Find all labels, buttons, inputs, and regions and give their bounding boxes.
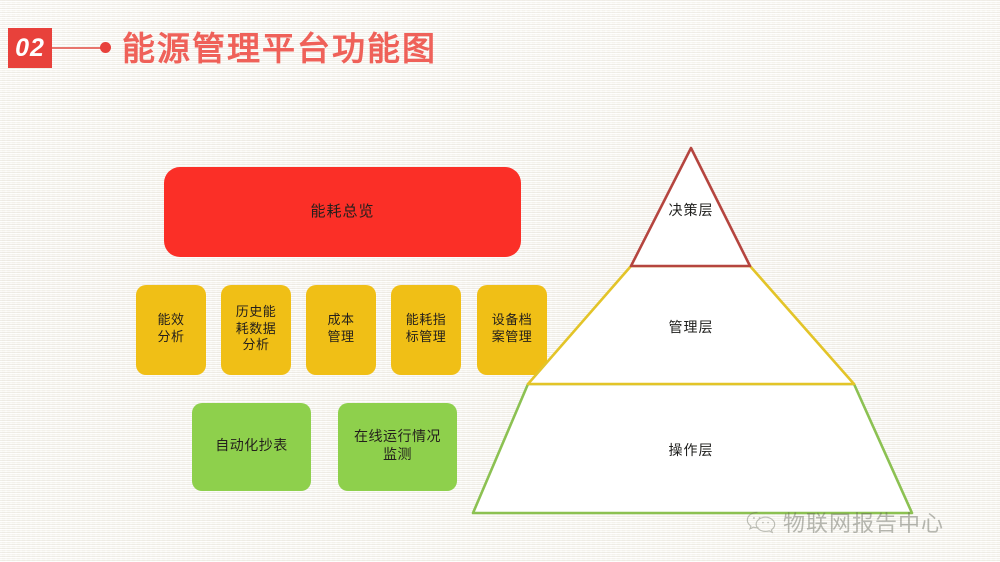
slide-header: 02 能源管理平台功能图	[0, 0, 1000, 92]
module-box-consumption-indicator-management[interactable]: 能耗指 标管理	[391, 285, 461, 375]
slide-canvas: 02 能源管理平台功能图 能耗总览 能效 分析 历史能 耗数据 分析 成本 管理…	[0, 0, 1000, 562]
module-box-efficiency-analysis[interactable]: 能效 分析	[136, 285, 206, 375]
pyramid-label-management-layer: 管理层	[669, 317, 714, 337]
watermark-label: 物联网报告中心	[783, 506, 944, 538]
header-connector-dot-icon	[100, 42, 111, 53]
watermark: 物联网报告中心	[746, 506, 944, 538]
section-number-badge: 02	[8, 28, 52, 68]
pyramid-label-decision-layer: 决策层	[669, 200, 714, 220]
pyramid-label-operation-layer: 操作层	[669, 440, 714, 460]
header-connector-line	[52, 47, 104, 49]
hierarchy-pyramid: 决策层 管理层 操作层	[455, 135, 935, 530]
module-box-automatic-meter-reading[interactable]: 自动化抄表	[192, 403, 311, 491]
module-box-online-operation-monitoring[interactable]: 在线运行情况 监测	[338, 403, 457, 491]
page-title: 能源管理平台功能图	[122, 22, 437, 70]
module-box-historical-data-analysis[interactable]: 历史能 耗数据 分析	[221, 285, 291, 375]
wechat-icon	[746, 510, 776, 534]
module-box-cost-management[interactable]: 成本 管理	[306, 285, 376, 375]
